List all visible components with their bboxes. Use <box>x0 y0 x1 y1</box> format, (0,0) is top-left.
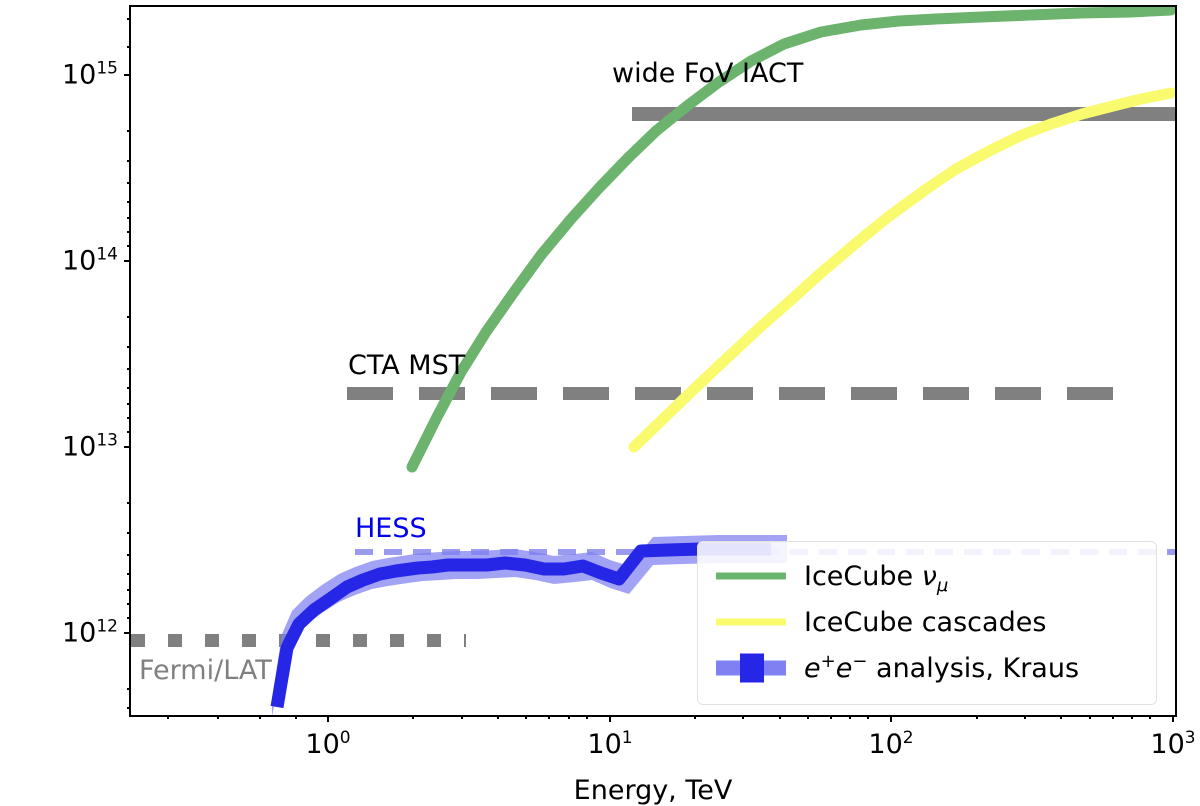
x-tick-minor <box>694 715 696 719</box>
x-tick-label-1e1: 101 <box>587 731 632 758</box>
legend-swatch-green-line <box>716 573 786 580</box>
x-tick-minor <box>217 715 219 719</box>
x-tick-minor <box>867 715 869 719</box>
x-tick-label-1e3: 103 <box>1150 731 1195 758</box>
x-tick-minor <box>1131 715 1133 719</box>
x-tick-minor <box>461 715 463 719</box>
x-tick-minor <box>830 715 832 719</box>
x-tick-minor <box>1060 715 1062 719</box>
legend-label-electron: e <box>804 653 821 684</box>
y-tick-major-1e13 <box>124 446 131 448</box>
x-tick-minor <box>1149 715 1151 719</box>
x-tick-minor <box>568 715 570 719</box>
x-tick-major-1e2 <box>890 715 892 722</box>
legend-label-icecube-cascades: IceCube cascades <box>790 607 1046 638</box>
y-tick-label-1e14: 1014 <box>62 248 118 275</box>
y-tick-label-1e15: 1015 <box>62 62 118 89</box>
x-tick-minor <box>976 715 978 719</box>
legend-item-kraus-analysis[interactable]: e+e− analysis, Kraus <box>712 645 1142 691</box>
cta-mst-label: CTA MST <box>348 352 465 379</box>
x-tick-minor <box>807 715 809 719</box>
x-tick-minor <box>779 715 781 719</box>
legend-key-icecube-cascades <box>712 599 790 645</box>
y-tick-major-1e14 <box>124 260 131 262</box>
y-tick-major-1e12 <box>124 632 131 634</box>
legend-label-icecube-numu-text: IceCube <box>804 561 922 592</box>
legend-swatch-blue-band <box>716 661 786 676</box>
x-tick-minor <box>1089 715 1091 719</box>
x-tick-minor <box>548 715 550 719</box>
legend-label-positron: e <box>836 653 853 684</box>
x-tick-minor <box>412 715 414 719</box>
legend[interactable]: IceCube νμ IceCube cascades e+e− analysi… <box>697 541 1157 705</box>
x-tick-minor <box>497 715 499 719</box>
x-tick-minor <box>742 715 744 719</box>
x-tick-minor <box>1112 715 1114 719</box>
legend-item-icecube-cascades[interactable]: IceCube cascades <box>712 599 1142 645</box>
x-tick-minor <box>586 715 588 719</box>
y-tick-label-1e13: 1013 <box>62 434 118 461</box>
wide-fov-iact-label: wide FoV IACT <box>612 60 803 87</box>
x-tick-minor <box>259 715 261 719</box>
x-tick-major-1e0 <box>327 715 329 722</box>
legend-label-kraus-rest: analysis, Kraus <box>867 653 1079 684</box>
x-tick-minor <box>1024 715 1026 719</box>
y-tick-major-1e15 <box>124 74 131 76</box>
x-tick-major-1e1 <box>609 715 611 722</box>
legend-item-icecube-numu[interactable]: IceCube νμ <box>712 553 1142 599</box>
x-tick-label-1e2: 102 <box>868 731 913 758</box>
hess-label: HESS <box>355 515 427 542</box>
legend-swatch-yellow-line <box>716 619 786 626</box>
legend-label-plus-superscript: + <box>821 651 836 672</box>
x-axis-title: Energy, TeV <box>129 775 1177 806</box>
fermi-lat-label: Fermi/LAT <box>139 657 272 684</box>
legend-label-minus-superscript: − <box>852 651 867 672</box>
figure-canvas: Annual exposure, cm2 s sr Energy, TeV 10… <box>0 0 1200 804</box>
icecube-cascades-line <box>634 93 1171 447</box>
legend-label-icecube-numu: IceCube νμ <box>790 561 948 592</box>
x-tick-minor <box>295 715 297 719</box>
x-tick-major-1e3 <box>1172 715 1174 722</box>
legend-label-mu-subscript: μ <box>937 575 948 596</box>
legend-label-nu-symbol: ν <box>922 561 937 592</box>
x-tick-minor <box>849 715 851 719</box>
legend-key-kraus-analysis <box>712 645 790 691</box>
legend-key-icecube-numu <box>712 553 790 599</box>
x-tick-label-1e0: 100 <box>305 731 350 758</box>
x-tick-minor <box>167 715 169 719</box>
x-tick-minor <box>525 715 527 719</box>
legend-label-kraus-analysis: e+e− analysis, Kraus <box>790 653 1079 684</box>
y-tick-label-1e12: 1012 <box>62 620 118 647</box>
